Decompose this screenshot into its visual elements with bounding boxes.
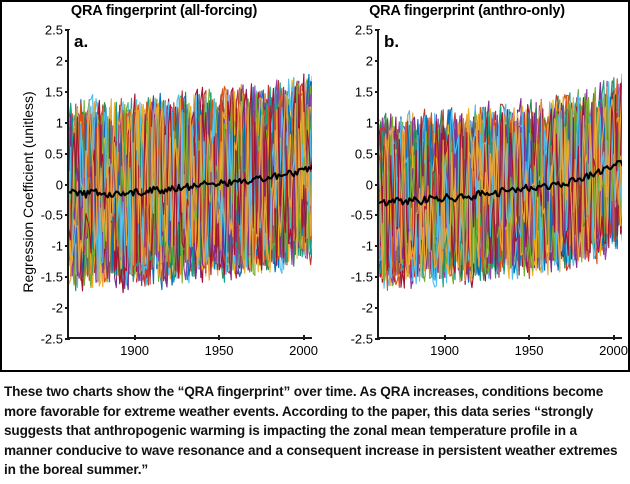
y-tick-label: -1: [51, 239, 63, 254]
y-tick-label: -1: [361, 239, 373, 254]
chart-figure: QRA fingerprint (all-forcing) 2.521.510.…: [0, 0, 630, 372]
y-tick-label: -1.5: [351, 270, 373, 285]
panel-a-title: QRA fingerprint (all-forcing): [6, 3, 322, 19]
y-tick-label: 0.5: [45, 146, 63, 161]
y-tick-label: 2.5: [355, 23, 373, 38]
panel-anthro-only: QRA fingerprint (anthro-only) 2.521.510.…: [318, 2, 628, 370]
ensemble-spaghetti-plot: [379, 30, 622, 337]
y-tick-label: 1.5: [45, 84, 63, 99]
panel-all-forcing: QRA fingerprint (all-forcing) 2.521.510.…: [2, 2, 318, 370]
y-tick-label: 1.5: [355, 84, 373, 99]
panel-b-series-canvas: [379, 30, 622, 337]
y-tick-label: -0.5: [351, 208, 373, 223]
x-tick-mark: [528, 335, 530, 340]
y-tick-label: 0.5: [355, 146, 373, 161]
panel-b-x-tick-labels: 190019502000: [377, 341, 622, 365]
panel-b-y-tick-labels: 2.521.510.50-0.5-1-1.5-2-2.5: [333, 30, 373, 339]
x-tick-label: 1900: [430, 343, 459, 358]
y-axis-title: Regression Coefficient (unitless): [20, 37, 36, 347]
y-tick-label: -2.5: [41, 332, 63, 347]
y-tick-label: -2: [361, 301, 373, 316]
figure-root: QRA fingerprint (all-forcing) 2.521.510.…: [0, 0, 630, 466]
panel-b-letter: b.: [384, 32, 399, 52]
x-tick-mark: [613, 335, 615, 340]
x-tick-mark: [134, 335, 136, 340]
y-tick-label: -1.5: [41, 270, 63, 285]
x-tick-label: 2000: [599, 343, 628, 358]
y-tick-label: 0: [366, 177, 373, 192]
figure-caption: These two charts show the “QRA fingerpri…: [0, 374, 630, 484]
panel-b-title: QRA fingerprint (anthro-only): [312, 3, 622, 19]
x-tick-mark: [303, 335, 305, 340]
y-tick-label: 2: [56, 53, 63, 68]
panel-b-plot-area: [377, 30, 622, 339]
x-tick-label: 1950: [515, 343, 544, 358]
x-tick-mark: [444, 335, 446, 340]
ensemble-spaghetti-plot: [69, 30, 312, 337]
panel-a-series-canvas: [69, 30, 312, 337]
chart-panels: QRA fingerprint (all-forcing) 2.521.510.…: [2, 2, 628, 370]
x-tick-label: 2000: [289, 343, 318, 358]
x-tick-mark: [218, 335, 220, 340]
y-tick-label: -0.5: [41, 208, 63, 223]
y-tick-label: 1: [366, 115, 373, 130]
y-tick-label: 0: [56, 177, 63, 192]
panel-a-plot-area: [67, 30, 312, 339]
x-tick-label: 1950: [205, 343, 234, 358]
panel-a-x-tick-labels: 190019502000: [67, 341, 312, 365]
y-tick-label: -2: [51, 301, 63, 316]
y-tick-label: 2: [366, 53, 373, 68]
x-tick-label: 1900: [120, 343, 149, 358]
y-tick-label: 2.5: [45, 23, 63, 38]
y-tick-label: 1: [56, 115, 63, 130]
panel-a-letter: a.: [74, 32, 88, 52]
y-tick-label: -2.5: [351, 332, 373, 347]
